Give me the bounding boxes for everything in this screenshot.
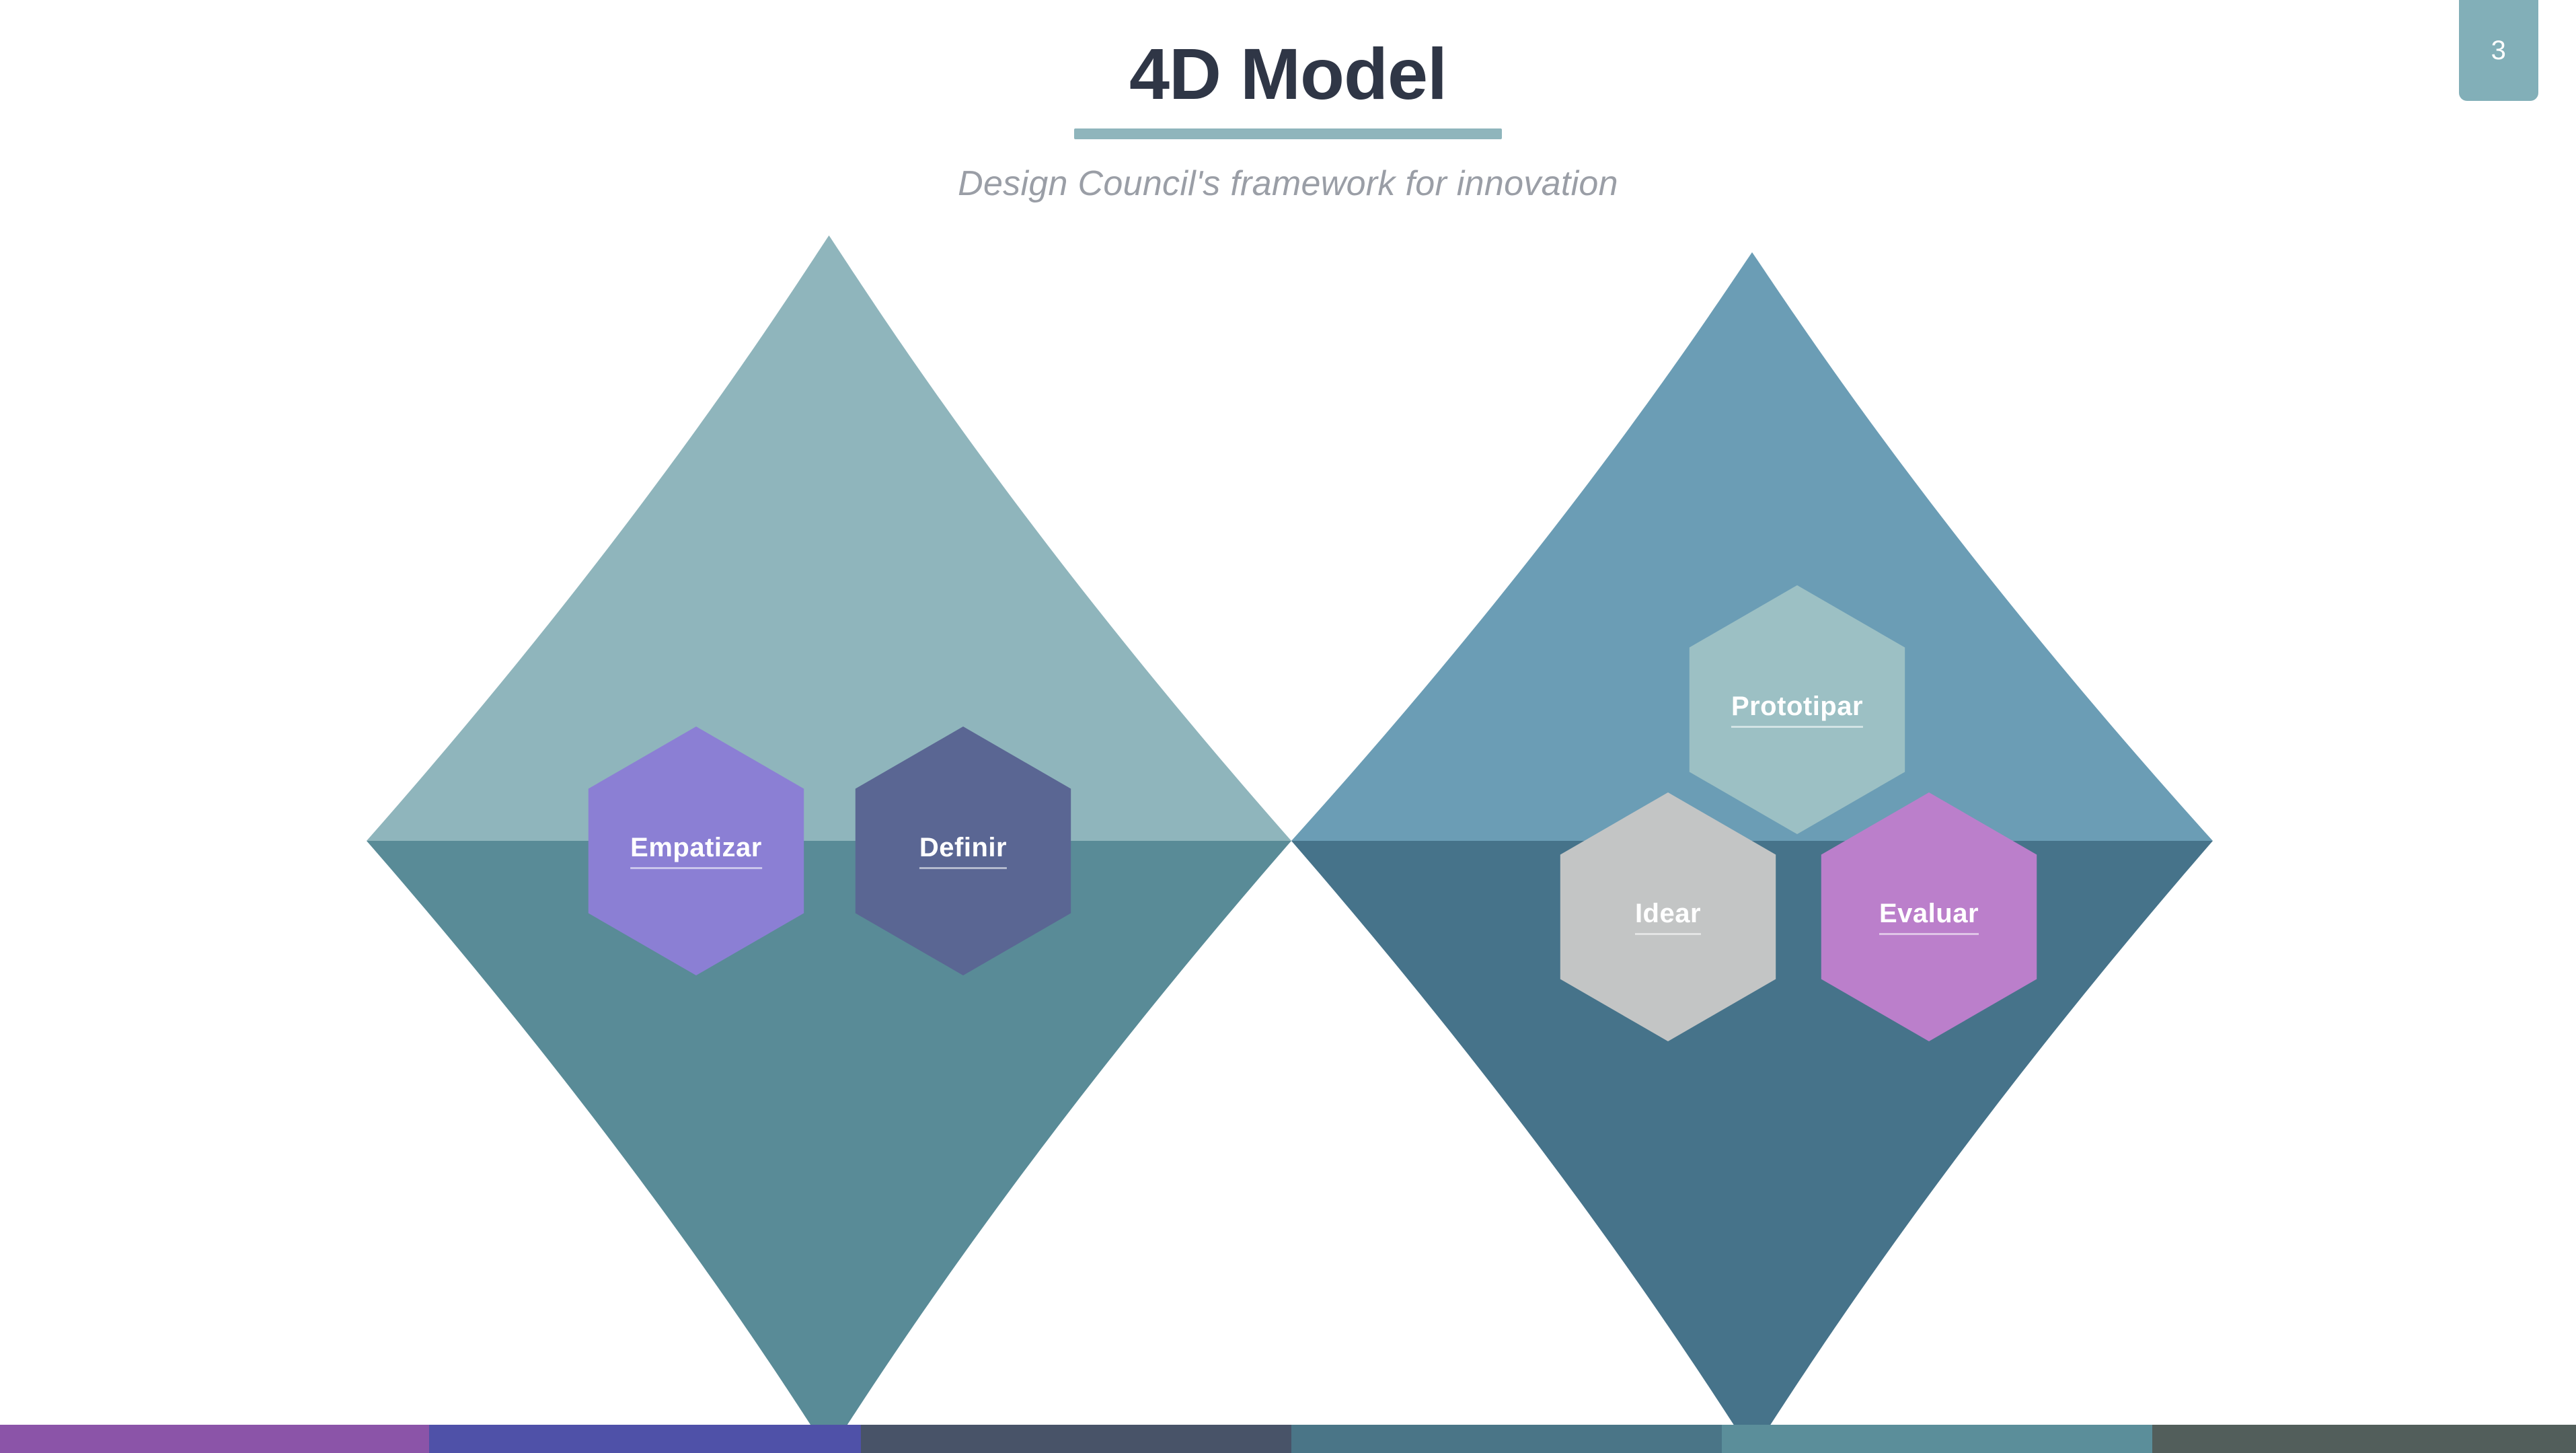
segment-slate <box>861 1425 1291 1453</box>
double-diamond-diagram <box>0 0 2576 1453</box>
segment-steel-blue <box>1291 1425 1722 1453</box>
discover-define-diamond-upper-half <box>367 235 1291 841</box>
segment-purple <box>0 1425 429 1453</box>
hexagon-label-evaluar: Evaluar <box>1879 899 1979 935</box>
segment-indigo <box>429 1425 861 1453</box>
page-subtitle: Design Council's framework for innovatio… <box>0 163 2576 204</box>
bottom-color-bar <box>0 1425 2576 1453</box>
develop-deliver-diamond-lower-half <box>1291 841 2213 1453</box>
title-underline-rule <box>1074 128 1502 139</box>
hexagon-label-prototipar: Prototipar <box>1731 692 1863 728</box>
slide-canvas: 3 4D Model Design Council's framework fo… <box>0 0 2576 1453</box>
segment-teal <box>1722 1425 2152 1453</box>
heading-block: 4D Model Design Council's framework for … <box>0 35 2576 204</box>
hexagon-label-empatizar: Empatizar <box>630 833 762 869</box>
diagram-svg <box>0 0 2576 1453</box>
hexagon-label-definir: Definir <box>919 833 1007 869</box>
page-title: 4D Model <box>0 35 2576 114</box>
hexagon-label-idear: Idear <box>1635 899 1701 935</box>
develop-deliver-diamond-upper-half <box>1291 252 2213 841</box>
segment-dark-gray <box>2152 1425 2576 1453</box>
discover-define-diamond-lower-half <box>367 841 1291 1453</box>
